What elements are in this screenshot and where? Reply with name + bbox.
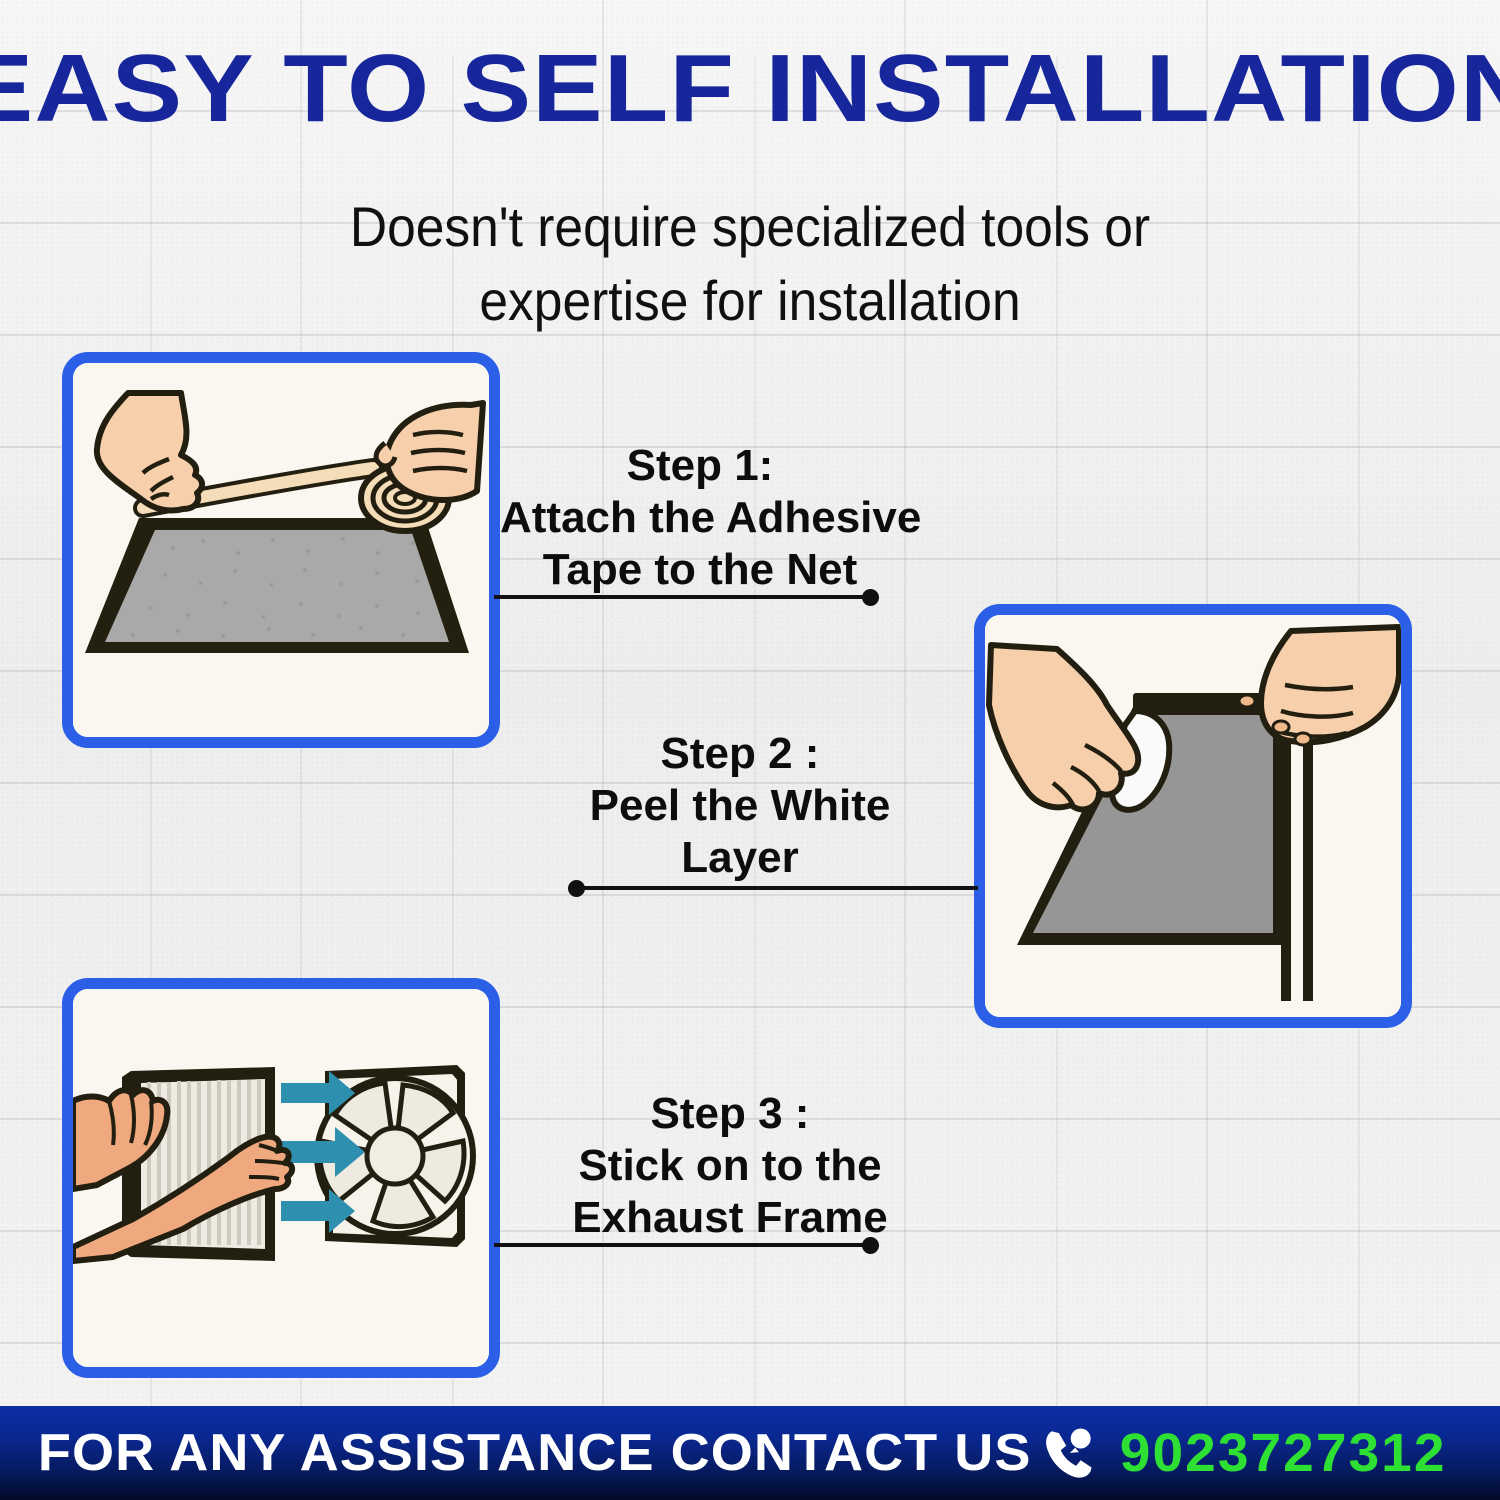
step-2-line-3: Layer [540, 832, 940, 884]
subtitle-line-2: expertise for installation [60, 264, 1440, 338]
contact-bar: FOR ANY ASSISTANCE CONTACT US 9023727312 [0, 1406, 1500, 1500]
step-2-image-panel [974, 604, 1412, 1028]
stick-filter-on-fan-illustration [73, 989, 489, 1367]
tape-on-net-illustration [73, 363, 489, 737]
step-2-caption: Step 2 : Peel the White Layer [540, 728, 940, 884]
page-title: EASY TO SELF INSTALLATION [0, 34, 1500, 144]
step-1-caption: Step 1: Attach the Adhesive Tape to the … [500, 440, 900, 596]
step-2-connector-line [578, 886, 978, 890]
step-1-image-panel [62, 352, 500, 748]
step-1-label: Step 1: [500, 440, 900, 492]
step-3-connector-line [494, 1243, 874, 1247]
infographic-page: EASY TO SELF INSTALLATION Doesn't requir… [0, 0, 1500, 1500]
step-1-connector-line [494, 595, 874, 599]
phone-number: 9023727312 [1119, 1422, 1446, 1484]
step-3-caption: Step 3 : Stick on to the Exhaust Frame [520, 1088, 940, 1244]
step-2-connector-dot [568, 880, 585, 897]
step-3-line-2: Stick on to the [520, 1140, 940, 1192]
subtitle-line-1: Doesn't require specialized tools or [60, 190, 1440, 264]
step-1-connector-dot [862, 589, 879, 606]
phone-call-icon [1039, 1424, 1097, 1482]
step-1-line-2: Attach the Adhesive [500, 492, 900, 544]
step-3-line-3: Exhaust Frame [520, 1192, 940, 1244]
step-3-connector-dot [862, 1237, 879, 1254]
step-3-image-panel [62, 978, 500, 1378]
step-2-label: Step 2 : [540, 728, 940, 780]
step-3-label: Step 3 : [520, 1088, 940, 1140]
assistance-text: FOR ANY ASSISTANCE CONTACT US [38, 1423, 1032, 1483]
step-1-line-3: Tape to the Net [500, 544, 900, 596]
peel-white-layer-illustration [985, 615, 1401, 1017]
step-2-line-2: Peel the White [540, 780, 940, 832]
page-subtitle: Doesn't require specialized tools or exp… [60, 190, 1440, 338]
